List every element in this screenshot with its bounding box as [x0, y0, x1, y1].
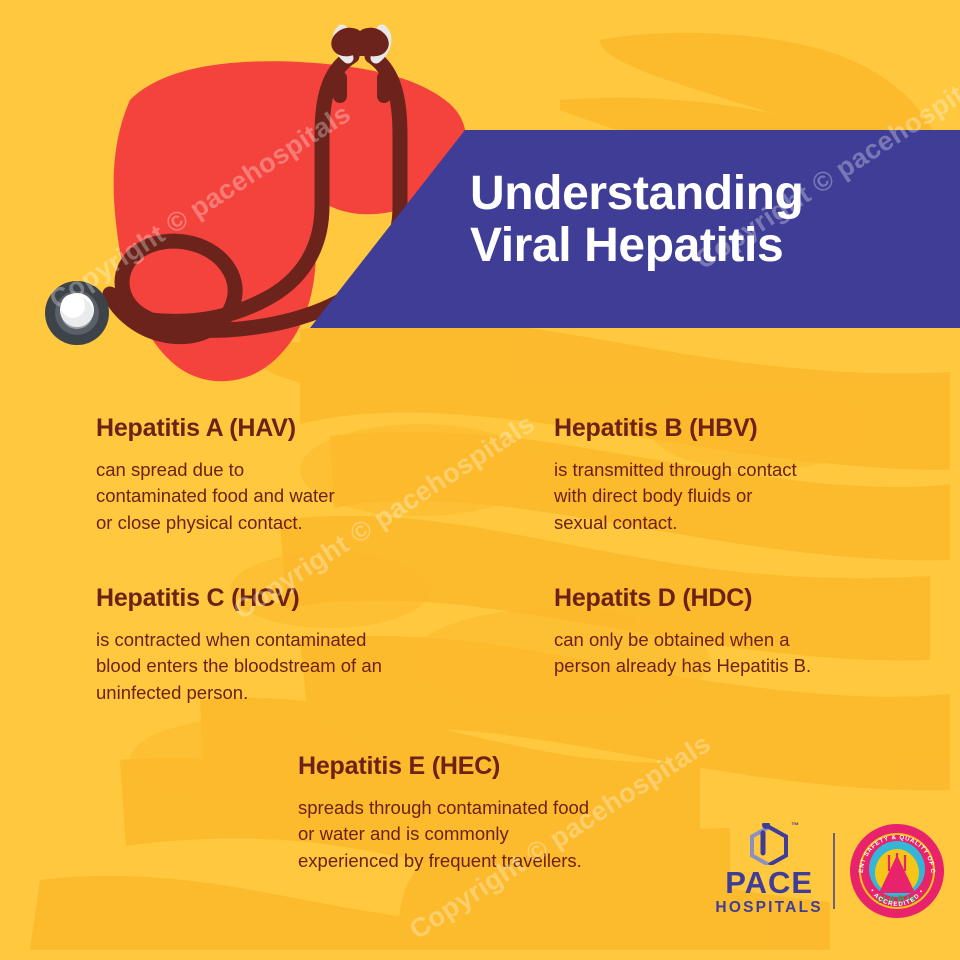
page-title: Understanding Viral Hepatitis — [470, 168, 803, 272]
logo-divider — [833, 833, 835, 909]
section-body-hav: can spread due to contaminated food and … — [96, 457, 496, 536]
trademark-symbol: ™ — [791, 821, 799, 830]
section-hepatitis-e: Hepatitis E (HEC) spreads through contam… — [298, 752, 698, 874]
stethoscope-chestpiece-icon — [45, 281, 109, 345]
section-body-hcv: is contracted when contaminated blood en… — [96, 627, 506, 706]
section-hepatitis-b: Hepatitis B (HBV) is transmitted through… — [554, 414, 944, 536]
section-hepatitis-d: Hepatits D (HDC) can only be obtained wh… — [554, 584, 944, 680]
pace-brand-subtitle: HOSPITALS — [715, 898, 822, 918]
nabh-badge-svg: NABH PATIENT SAFETY & QUALITY OF CARE • … — [849, 823, 945, 919]
section-heading-hbv: Hepatitis B (HBV) — [554, 414, 944, 443]
pace-hospitals-logo: ™ PACE HOSPITALS — [715, 823, 823, 918]
footer-logos: ™ PACE HOSPITALS NABH PATIENT SAFETY & Q… — [715, 808, 945, 933]
pace-mark-svg — [745, 823, 793, 865]
section-heading-hcv: Hepatitis C (HCV) — [96, 584, 506, 613]
section-heading-hev: Hepatitis E (HEC) — [298, 752, 698, 781]
section-body-hbv: is transmitted through contact with dire… — [554, 457, 944, 536]
pace-brand-name: PACE — [725, 867, 813, 898]
nabh-accreditation-badge: NABH PATIENT SAFETY & QUALITY OF CARE • … — [849, 823, 945, 919]
section-hepatitis-a: Hepatitis A (HAV) can spread due to cont… — [96, 414, 496, 536]
section-body-hdv: can only be obtained when a person alrea… — [554, 627, 944, 680]
section-body-hev: spreads through contaminated food or wat… — [298, 795, 698, 874]
section-heading-hav: Hepatitis A (HAV) — [96, 414, 496, 443]
section-heading-hdv: Hepatits D (HDC) — [554, 584, 944, 613]
pace-hexagon-icon: ™ — [745, 823, 793, 865]
section-hepatitis-c: Hepatitis C (HCV) is contracted when con… — [96, 584, 506, 706]
title-banner: Understanding Viral Hepatitis — [300, 130, 960, 328]
